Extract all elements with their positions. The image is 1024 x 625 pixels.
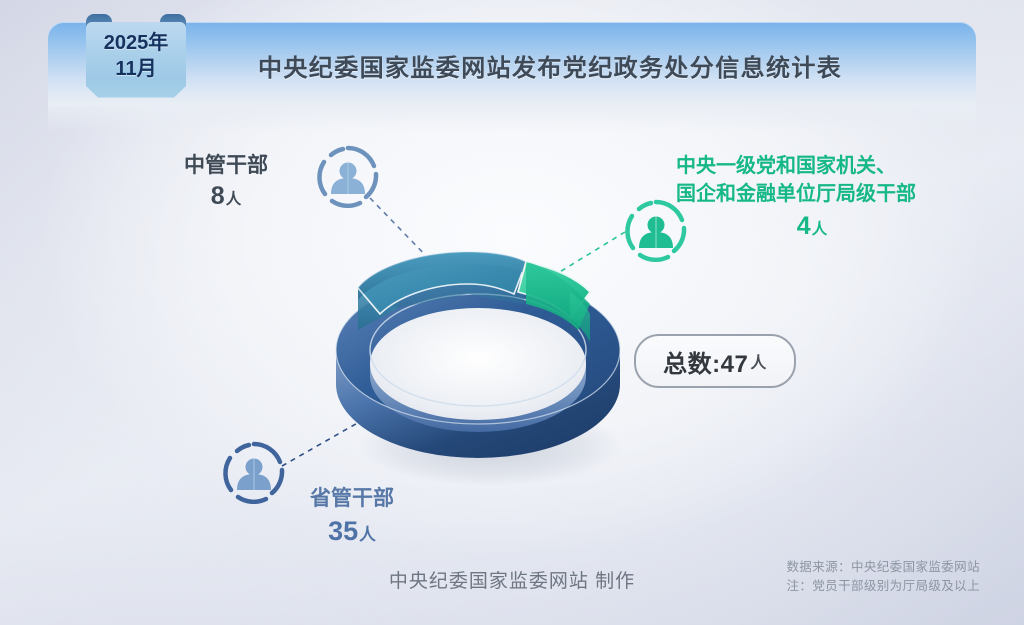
callout-name-sheng: 省管干部 (310, 483, 394, 515)
total-label: 总数:47 (663, 344, 748, 379)
callout-name-zhongguan: 中管干部 (184, 150, 268, 181)
infographic-canvas: 中央纪委国家监委网站发布党纪政务处分信息统计表 2025年 11月 (0, 0, 1024, 625)
note-line: 注：党员干部级别为厅局级及以上 (786, 577, 980, 596)
date-year: 2025年 (104, 32, 169, 54)
callout-count-sheng: 35人 (310, 515, 394, 551)
person-circle-icon-zhongguan[interactable] (316, 144, 380, 208)
callout-count-central: 4人 (676, 212, 948, 244)
callout-count-zhongguan: 8人 (184, 181, 268, 215)
callout-label-sheng: 省管干部 35人 (310, 483, 394, 551)
date-text: 2025年 11月 (86, 30, 186, 82)
callout-name-central-line1: 中央一级党和国家机关、 (676, 152, 948, 180)
page-title: 中央纪委国家监委网站发布党纪政务处分信息统计表 (258, 48, 842, 83)
total-unit: 人 (750, 349, 767, 373)
callout-label-zhongguan: 中管干部 8人 (184, 150, 268, 215)
callout-label-central: 中央一级党和国家机关、 国企和金融单位厅局级干部 4人 (676, 152, 948, 244)
donut-hole (370, 308, 586, 420)
person-circle-icon-sheng[interactable] (222, 440, 286, 504)
donut-chart (318, 218, 638, 498)
source-line: 数据来源：中央纪委国家监委网站 (786, 558, 980, 577)
total-badge: 总数:47人 (634, 334, 796, 388)
date-month: 11月 (115, 58, 156, 80)
date-ribbon: 2025年 11月 (86, 14, 186, 104)
source-note: 数据来源：中央纪委国家监委网站 注：党员干部级别为厅局级及以上 (786, 558, 980, 596)
callout-name-central-line2: 国企和金融单位厅局级干部 (676, 180, 948, 208)
